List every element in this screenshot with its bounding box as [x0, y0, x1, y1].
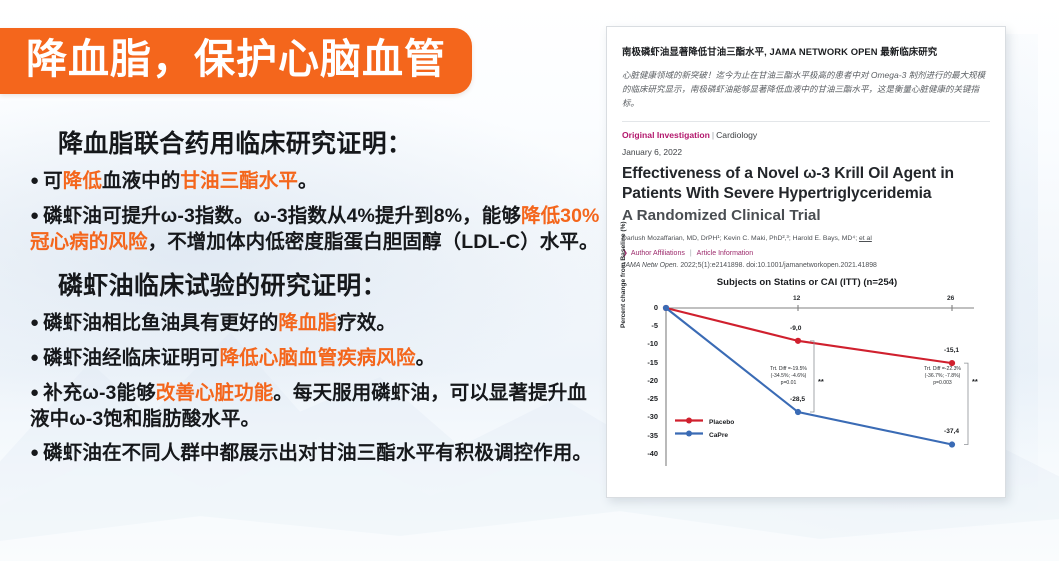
section-2-heading: 磷虾油临床试验的研究证明： — [58, 270, 602, 302]
bullet-dot-icon: ● — [30, 314, 39, 331]
divider — [622, 121, 990, 122]
plain-text: 磷虾油相比鱼油具有更好的 — [43, 312, 278, 334]
article-authors: Darlush Mozaffarian, MD, DrPH¹; Kevin C.… — [622, 234, 990, 244]
plain-text: 疗效。 — [337, 312, 396, 334]
chart-plot-area: Percent change from Baseline (%) 0-5-10-… — [622, 294, 992, 480]
legend-label: Placebo — [709, 419, 734, 426]
section-2-bullets: ●磷虾油相比鱼油具有更好的降血脂疗效。 ●磷虾油经临床证明可降低心脑血管疾病风险… — [30, 311, 602, 468]
annotation-line: p=0.01 — [770, 380, 807, 387]
article-citation: JAMA Netw Open. 2022;5(1):e2141898. doi:… — [622, 262, 990, 269]
bullet-text: 磷虾油相比鱼油具有更好的降血脂疗效。 — [43, 312, 396, 334]
annotation-line: Trt. Diff =-22.3% — [924, 366, 961, 373]
plain-text: 血液中的 — [102, 170, 180, 192]
chart-annotation: Trt. Diff =-19.5%(-34.5%; -4.6%)p=0.01 — [770, 366, 807, 388]
citation-rest: 2022;5(1):e2141898. doi:10.1001/jamanetw… — [680, 262, 877, 269]
chart-title: Subjects on Statins or CAI (ITT) (n=254) — [622, 277, 992, 288]
bullet-item: ●可降低血液中的甘油三酯水平。 — [30, 169, 602, 195]
plain-text: 补充ω-3能够 — [43, 382, 156, 404]
plain-text: 。 — [416, 347, 436, 369]
banner-title: 降血脂，保护心脑血管 — [26, 34, 446, 84]
chart-point-label: -28,5 — [790, 396, 805, 403]
kicker-label[interactable]: Original Investigation — [622, 130, 710, 140]
bullet-dot-icon: ● — [30, 207, 39, 224]
article-kicker: Original Investigation|Cardiology — [622, 129, 990, 141]
annotation-line: Trt. Diff =-19.5% — [770, 366, 807, 373]
legend-label: CaPre — [709, 432, 728, 439]
link-separator: | — [690, 250, 692, 257]
citation-journal: JAMA Netw Open. — [622, 262, 678, 269]
highlighted-text: 降低心脑血管疾病风险 — [220, 347, 416, 369]
authors-list: Darlush Mozaffarian, MD, DrPH¹; Kevin C.… — [622, 235, 857, 242]
chart-point-label: -9,0 — [790, 325, 801, 332]
annotation-line: (-36.7%; -7.8%) — [924, 373, 961, 380]
highlighted-text: 降血脂 — [278, 312, 337, 334]
chart-point-label: -37,4 — [944, 428, 959, 435]
bullet-dot-icon: ● — [30, 172, 39, 189]
author-affiliations-link[interactable]: Author Affiliations — [631, 250, 685, 257]
bullet-text: 磷虾油经临床证明可降低心脑血管疾病风险。 — [43, 347, 435, 369]
article-screenshot-card: 南极磷虾油显著降低甘油三酯水平, JAMA NETWORK OPEN 最新临床研… — [606, 26, 1006, 498]
bullet-dot-icon: ● — [30, 349, 39, 366]
kicker-topic[interactable]: Cardiology — [716, 130, 757, 140]
highlighted-text: 甘油三酯水平 — [180, 170, 298, 192]
annotation-line: (-34.5%; -4.6%) — [770, 373, 807, 380]
chart-figure: Subjects on Statins or CAI (ITT) (n=254)… — [622, 277, 992, 482]
bullet-text: 可降低血液中的甘油三酯水平。 — [43, 170, 317, 192]
plain-text: 磷虾油在不同人群中都展示出对甘油三酯水平有积极调控作用。 — [43, 442, 592, 464]
legend-item: CaPre — [674, 429, 728, 439]
plain-text: 。 — [298, 170, 318, 192]
legend-swatch — [674, 416, 704, 425]
chart-annotation: Trt. Diff =-22.3%(-36.7%; -7.8%)p=0.003 — [924, 366, 961, 388]
article-links: ❯Author Affiliations|Article Information — [622, 249, 990, 257]
bullet-dot-icon: ● — [30, 384, 39, 401]
section-1-bullets: ●可降低血液中的甘油三酯水平。 ●磷虾油可提升ω-3指数。ω-3指数从4%提升到… — [30, 169, 602, 256]
bullet-item: ●补充ω-3能够改善心脏功能。每天服用磷虾油，可以显著提升血液中ω-3饱和脂肪酸… — [30, 381, 602, 433]
plain-text: 磷虾油经临床证明可 — [43, 347, 219, 369]
highlighted-text: 改善心脏功能 — [156, 382, 274, 404]
kicker-separator: | — [712, 130, 714, 140]
highlighted-text: 降低 — [63, 170, 102, 192]
article-subtitle: A Randomized Clinical Trial — [622, 206, 990, 226]
bullet-item: ●磷虾油经临床证明可降低心脑血管疾病风险。 — [30, 346, 602, 372]
plain-text: 磷虾油可提升ω-3指数。ω-3指数从4%提升到8%，能够 — [43, 205, 521, 227]
bullet-text: 补充ω-3能够改善心脏功能。每天服用磷虾油，可以显著提升血液中ω-3饱和脂肪酸水… — [30, 382, 587, 430]
plain-text: 可 — [43, 170, 63, 192]
bullet-text: 磷虾油在不同人群中都展示出对甘油三酯水平有积极调控作用。 — [43, 442, 592, 464]
section-1-heading: 降血脂联合药用临床研究证明： — [58, 128, 602, 160]
significance-stars: ** — [818, 377, 824, 386]
article-information-link[interactable]: Article Information — [697, 250, 753, 257]
card-headline: 南极磷虾油显著降低甘油三酯水平, JAMA NETWORK OPEN 最新临床研… — [622, 45, 990, 59]
legend-swatch — [674, 429, 704, 438]
bullet-item: ●磷虾油在不同人群中都展示出对甘油三酯水平有积极调控作用。 — [30, 441, 602, 467]
bullet-text: 磷虾油可提升ω-3指数。ω-3指数从4%提升到8%，能够降低30%冠心病的风险，… — [30, 205, 600, 253]
headline-banner: 降血脂，保护心脑血管 — [0, 28, 472, 94]
article-title[interactable]: Effectiveness of a Novel ω-3 Krill Oil A… — [622, 164, 990, 204]
bullet-item: ●磷虾油相比鱼油具有更好的降血脂疗效。 — [30, 311, 602, 337]
article-date: January 6, 2022 — [622, 147, 990, 157]
legend-item: Placebo — [674, 416, 734, 426]
bullet-dot-icon: ● — [30, 444, 39, 461]
card-summary: 心脏健康领域的新突破！迄今为止在甘油三酯水平极高的患者中对 Omega-3 制剂… — [622, 69, 990, 110]
significance-stars: ** — [972, 377, 978, 386]
bullet-item: ●磷虾油可提升ω-3指数。ω-3指数从4%提升到8%，能够降低30%冠心病的风险… — [30, 204, 602, 256]
plain-text: ，不增加体内低密度脂蛋白胆固醇（LDL-C）水平。 — [148, 231, 599, 253]
chart-point-label: -15,1 — [944, 347, 959, 354]
annotation-line: p=0.003 — [924, 380, 961, 387]
authors-etal-link[interactable]: et al — [859, 235, 872, 242]
left-content: 降血脂联合药用临床研究证明： ●可降低血液中的甘油三酯水平。 ●磷虾油可提升ω-… — [30, 128, 602, 476]
